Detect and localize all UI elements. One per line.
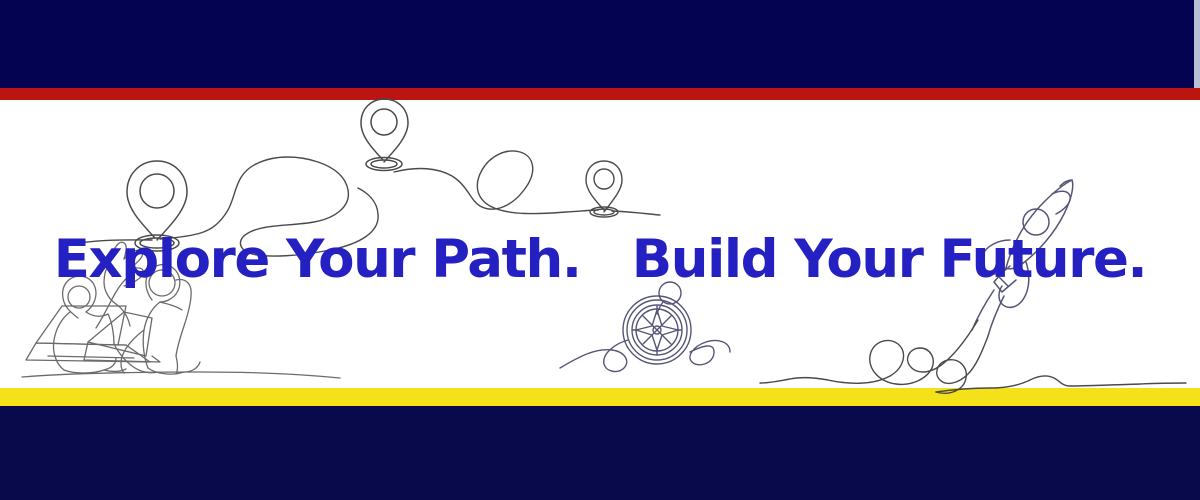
yellow-accent-band bbox=[0, 388, 1200, 406]
headline-segment-one: Explore Your Path. bbox=[54, 229, 581, 290]
top-navy-band bbox=[0, 0, 1200, 88]
headline-spacer bbox=[598, 229, 615, 290]
top-navy-edge bbox=[1194, 0, 1200, 88]
headline-segment-two: Build Your Future. bbox=[632, 229, 1146, 290]
red-accent-band bbox=[0, 88, 1200, 100]
page-title: Explore Your Path. Build Your Future. bbox=[0, 231, 1200, 289]
promo-banner: Explore Your Path. Build Your Future. bbox=[0, 0, 1200, 500]
bottom-navy-band bbox=[0, 406, 1200, 500]
